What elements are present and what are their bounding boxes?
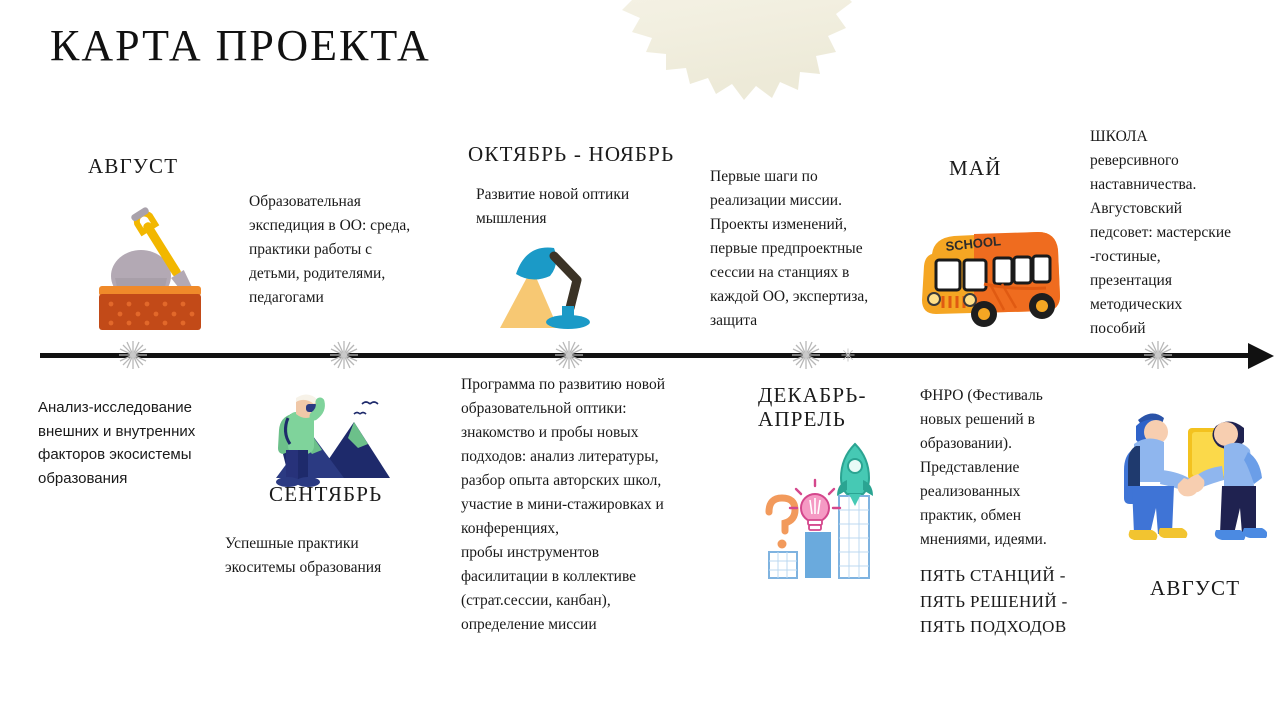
paper-burst-decoration — [540, 0, 860, 120]
timeline-marker-sparkle-icon — [791, 340, 821, 370]
timeline-marker-sparkle-icon — [1143, 340, 1173, 370]
hiker-with-binoculars-icon — [258, 378, 390, 488]
two-people-exchange-icon — [1112, 400, 1267, 565]
fnro-description: ФНРО (Фестиваль новых решений в образова… — [920, 384, 1100, 552]
school-reverse-mentoring-description: ШКОЛА реверсивного наставничества. Авгус… — [1090, 125, 1270, 341]
slide-canvas: КАРТА ПРОЕКТА — [0, 0, 1280, 720]
milestone-month-september: СЕНТЯБРЬ — [269, 483, 382, 507]
timeline-arrowhead-icon — [1248, 343, 1274, 369]
timeline-marker-sparkle-icon — [118, 340, 148, 370]
milestone-month-october-november: ОКТЯБРЬ - НОЯБРЬ — [468, 143, 674, 167]
first-steps-description: Первые шаги по реализации миссии. Проект… — [710, 165, 925, 333]
milestone-month-august-end: АВГУСТ — [1150, 577, 1240, 601]
timeline-marker-sparkle-icon — [329, 340, 359, 370]
milestone-month-december-april: ДЕКАБРЬ- АПРЕЛЬ — [758, 384, 867, 431]
milestone-month-august-start: АВГУСТ — [88, 155, 178, 179]
desk-lamp-icon — [480, 232, 605, 337]
growth-chart-rocket-icon — [755, 440, 883, 580]
milestone-month-may: МАЙ — [949, 157, 1002, 181]
timeline-marker-sparkle-icon — [554, 340, 584, 370]
program-description: Программа по развитию новой образователь… — [461, 373, 713, 637]
timeline-marker-sparkle-small-icon — [841, 348, 855, 362]
september-description: Успешные практики экоситемы образования — [225, 532, 440, 580]
august-start-description: Образовательная экспедиция в ОО: среда, … — [249, 190, 459, 310]
fnro-highlight: ПЯТЬ СТАНЦИЙ - ПЯТЬ РЕШЕНИЙ - ПЯТЬ ПОДХО… — [920, 563, 1110, 640]
timeline-axis-line — [40, 353, 1255, 358]
october-november-description: Развитие новой оптики мышления — [476, 183, 676, 231]
page-title: КАРТА ПРОЕКТА — [50, 20, 431, 71]
analysis-description: Анализ-исследование внешних и внутренних… — [38, 396, 253, 491]
shovel-in-ground-icon — [85, 200, 215, 330]
school-bus-icon: SCHOOL — [912, 218, 1067, 338]
